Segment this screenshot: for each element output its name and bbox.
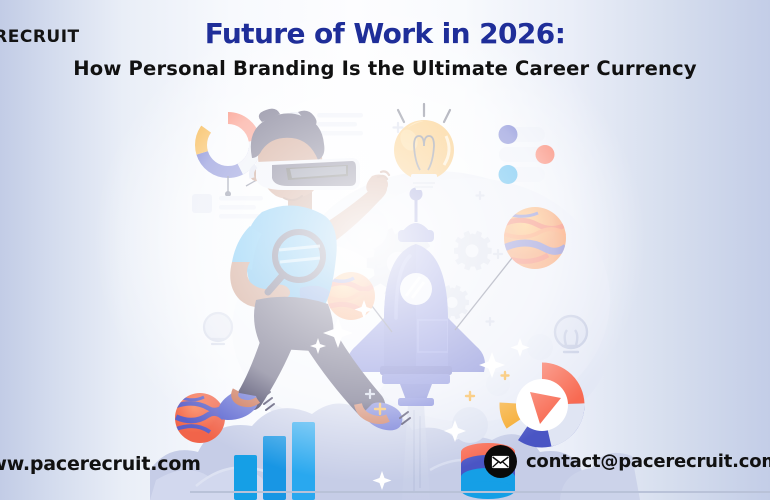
contact-block[interactable]: contact@pacerecruit.com <box>484 445 770 478</box>
contact-email: contact@pacerecruit.com <box>526 451 770 472</box>
promo-banner: PACERECRUIT Future of Work in 2026: How … <box>0 0 770 500</box>
website-url[interactable]: www.pacerecruit.com <box>0 453 201 475</box>
planet-icon-2 <box>327 272 375 320</box>
planet-icon-3 <box>175 393 225 443</box>
page-subtitle: How Personal Branding Is the Ultimate Ca… <box>0 58 770 80</box>
footer-divider <box>190 491 770 493</box>
ghost-lightbulb-icon-2 <box>204 313 232 344</box>
header-text-block: Future of Work in 2026: How Personal Bra… <box>0 18 770 81</box>
page-title: Future of Work in 2026: <box>0 18 770 49</box>
toggle-list-icon <box>499 125 555 184</box>
envelope-icon <box>484 445 517 478</box>
